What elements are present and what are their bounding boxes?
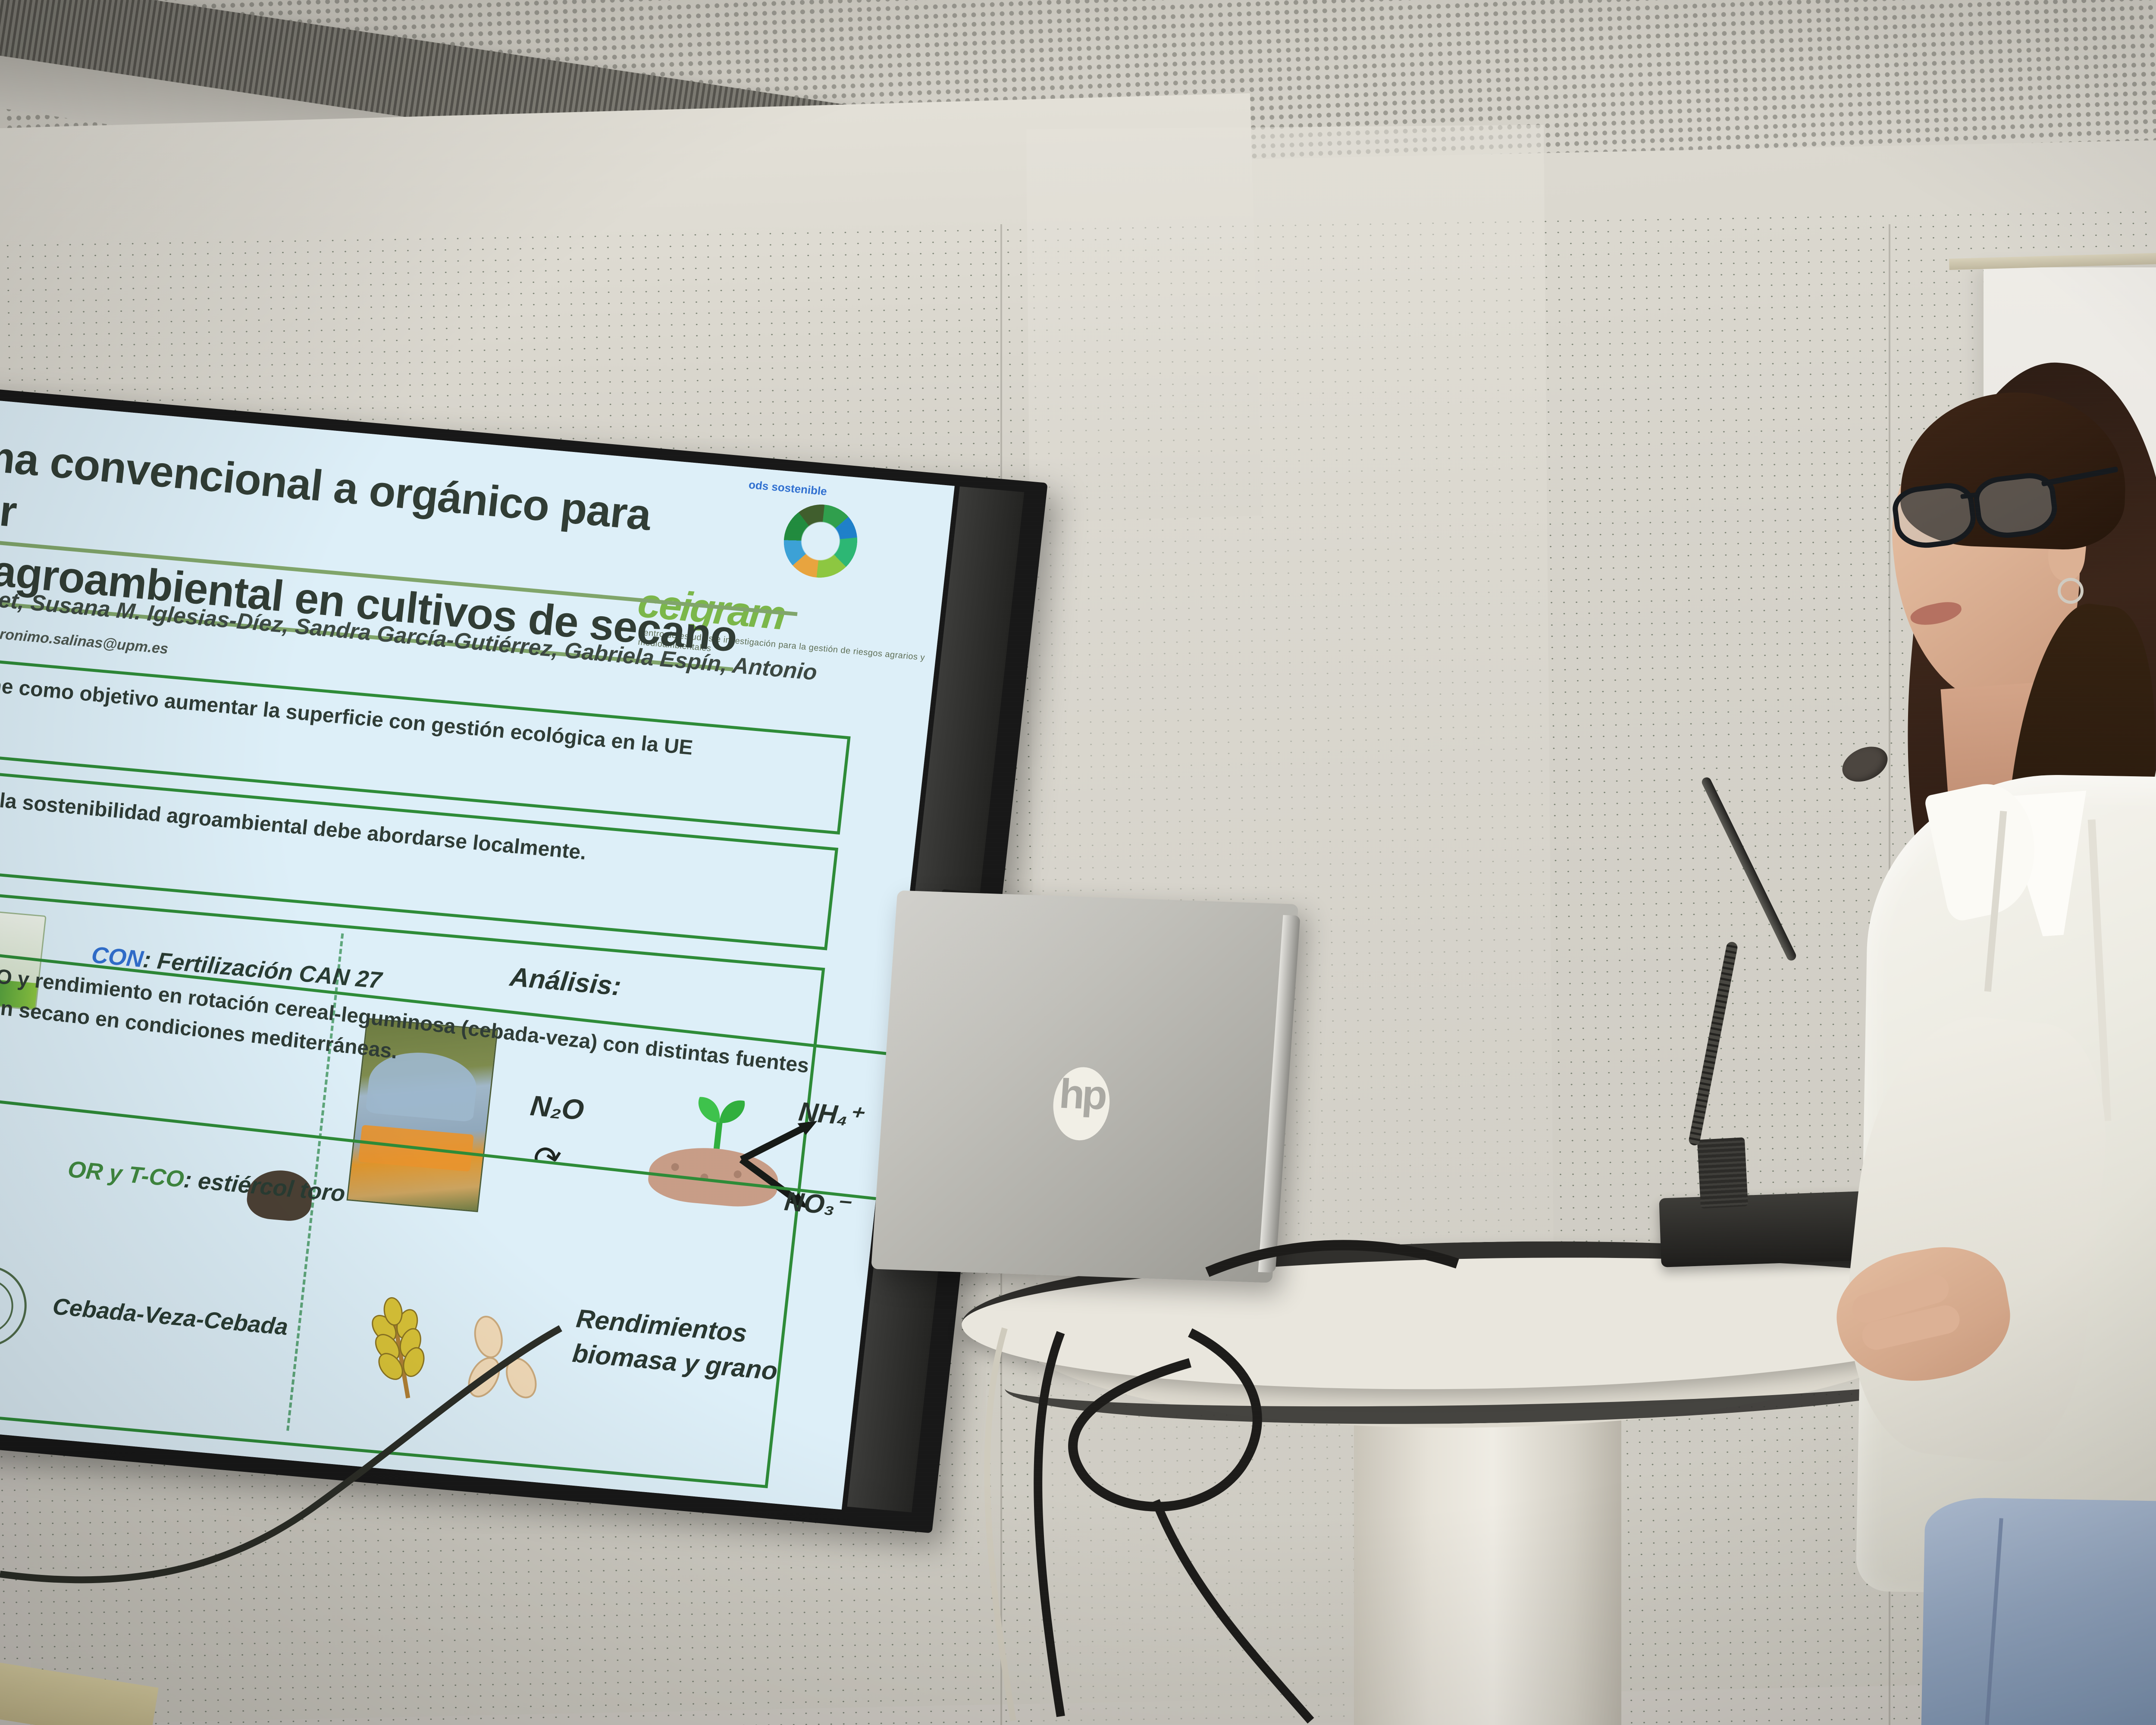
wheat-ear-icon: [339, 1273, 458, 1410]
analysis-label-nh4: NH₄⁺: [797, 1095, 864, 1132]
microphone-base[interactable]: [1659, 1191, 1877, 1267]
grain-seeds-icon: [455, 1312, 555, 1406]
presenter: [1863, 336, 2156, 1725]
slide-ods-label: ods sostenible: [748, 478, 828, 499]
gas-chamber-photo: [347, 1018, 498, 1212]
laptop[interactable]: [871, 891, 1307, 1292]
microphone-collar: [1697, 1137, 1748, 1209]
analysis-label-no3: NO₃⁻: [783, 1185, 851, 1222]
photo-scene: DE FOMENTO MURCIA EM ods sostenible ceig…: [0, 0, 2156, 1725]
tv-screen: ods sostenible ceigram centro de estudio…: [0, 392, 955, 1509]
jeans: [1921, 1497, 2156, 1725]
chamber-band: [358, 1125, 474, 1172]
chamber-lid: [365, 1048, 480, 1122]
presentation-slide: ods sostenible ceigram centro de estudio…: [0, 392, 955, 1509]
earring-icon: [2058, 578, 2084, 604]
treatment-code-con: CON: [90, 942, 144, 972]
analysis-label-n2o: N₂O: [529, 1089, 586, 1126]
